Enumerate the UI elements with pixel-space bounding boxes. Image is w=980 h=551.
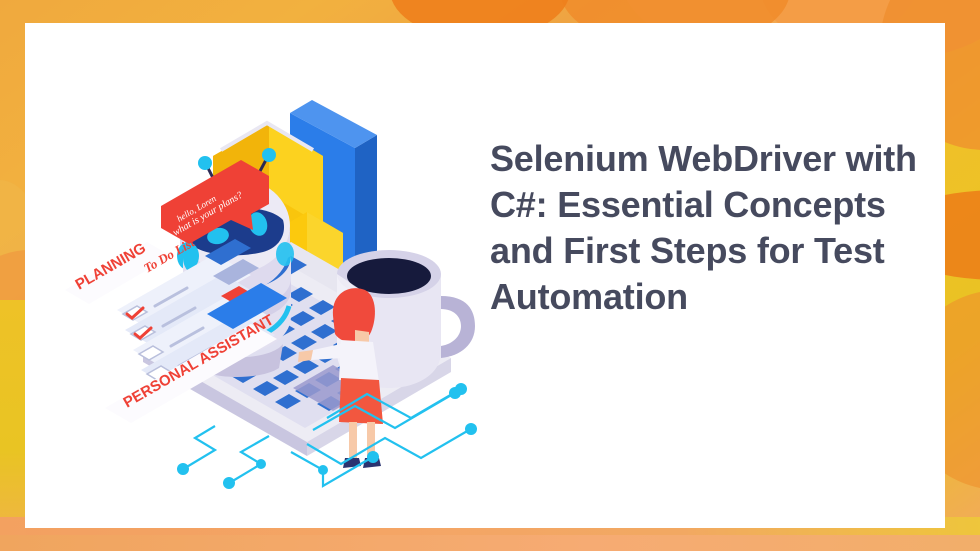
antenna-tip-icon <box>262 148 276 162</box>
background-bottom-band-inner <box>0 535 980 551</box>
antenna-tip-icon <box>198 156 212 170</box>
page-title: Selenium WebDriver with C#: Essential Co… <box>490 136 920 320</box>
content-card: PLANNING To Do List PERSONAL ASSISTANT h… <box>25 23 945 528</box>
hero-illustration: PLANNING To Do List PERSONAL ASSISTANT h… <box>55 78 505 498</box>
title-block: Selenium WebDriver with C#: Essential Co… <box>490 136 920 320</box>
background-left-band <box>0 300 26 551</box>
